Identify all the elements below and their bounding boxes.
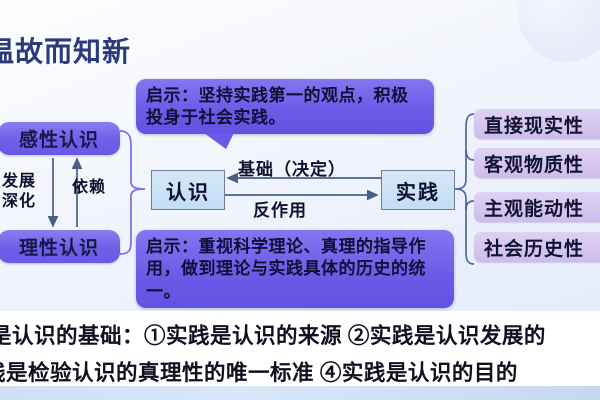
attribute-label-3[interactable]: 社会历史性 [474, 232, 600, 262]
callout-tail-1 [204, 133, 234, 149]
summary-line-1: 是认识的基础：①实践是认识的来源 ②实践是认识发展的 [0, 319, 546, 350]
attribute-label-0[interactable]: 直接现实性 [474, 109, 600, 139]
node-ganxing-renshi[interactable]: 感性认识 [0, 122, 120, 155]
callout-lilun-qishi: 启示：重视科学理论、真理的指导作用，做到理论与实践具体的历史的统一。 [136, 230, 454, 308]
attribute-label-1[interactable]: 客观物质性 [474, 148, 600, 178]
arrow-label-fanzuoyong: 反作用 [253, 196, 307, 221]
arrow-label-fazhan-shenhua: 发展 深化 [2, 172, 36, 211]
arrow-label-yilai: 依赖 [72, 178, 106, 198]
summary-line-2: 践是检验认识的真理性的唯一标准 ④实践是认识的目的 [0, 356, 518, 387]
callout-shijian-qishi: 启示：坚持实践第一的观点，积极投身于社会实践。 [136, 79, 434, 134]
node-renshi[interactable]: 认识 [151, 170, 225, 210]
decorative-circle [518, 0, 600, 62]
bottom-band [0, 386, 600, 400]
attribute-label-2[interactable]: 主观能动性 [474, 192, 600, 222]
slide-canvas: 温故而知新 感性认识 理性认识 发展 深化 依赖 认识 实践 基础（决定） 反作… [0, 0, 600, 400]
node-shijian[interactable]: 实践 [381, 170, 455, 210]
node-lixing-renshi[interactable]: 理性认识 [0, 230, 120, 263]
arrow-label-jichu-jueding: 基础（决定） [238, 155, 346, 180]
page-title: 温故而知新 [0, 30, 131, 70]
